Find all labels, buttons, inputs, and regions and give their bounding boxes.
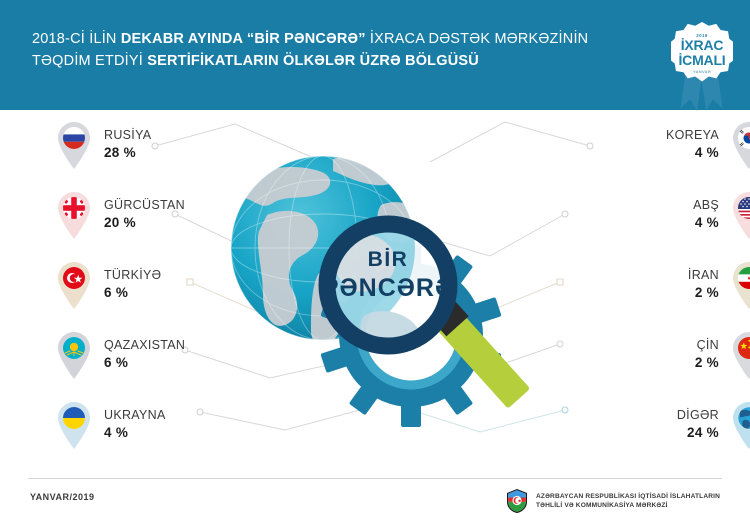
flag-china-pin-icon [727, 328, 750, 380]
country-name: QAZAXISTAN [104, 337, 185, 353]
list-item-koreya[interactable]: KOREYA 4 % [556, 118, 750, 188]
country-value: 6 % [104, 354, 185, 372]
country-value: 6 % [104, 284, 161, 302]
flag-usa-pin-icon [727, 188, 750, 240]
ixrac-icmali-badge: 2019 İXRAC İCMALI YANVAR [663, 22, 739, 114]
org-line-1: AZƏRBAYCAN RESPUBLİKASI İQTİSADİ İSLAHAT… [536, 492, 720, 501]
flag-turkey-pin-icon [52, 258, 96, 310]
country-name: RUSİYA [104, 127, 151, 143]
right-country-list: KOREYA 4 % [556, 118, 750, 468]
list-item-text: RUSİYA 28 % [104, 127, 151, 162]
left-country-list: RUSİYA 28 % [52, 118, 267, 468]
title-l2-bold: SERTİFİKATLARIN ÖLKƏLƏR ÜZRƏ BÖLGÜSÜ [147, 53, 479, 69]
organization-name: AZƏRBAYCAN RESPUBLİKASI İQTİSADİ İSLAHAT… [536, 492, 720, 510]
list-item-diger[interactable]: DİGƏR 24 % [556, 398, 750, 468]
list-item-text: DİGƏR 24 % [677, 407, 719, 442]
country-name: GÜRCÜSTAN [104, 197, 185, 213]
magnifier-text-line2: PƏNCƏRƏ [322, 274, 454, 302]
list-item-ukrayna[interactable]: UKRAYNA 4 % [52, 398, 267, 468]
org-line-2: TƏHLİLİ VƏ KOMMUNİKASİYA MƏRKƏZİ [536, 501, 720, 510]
magnifier-text-line1: BİR [368, 248, 409, 271]
country-value: 4 % [666, 144, 719, 162]
list-item-qazaxistan[interactable]: QAZAXISTAN 6 % [52, 328, 267, 398]
footer-date: YANVAR/2019 [30, 492, 95, 502]
title-l2-pre: TƏQDİM ETDİYİ [32, 53, 147, 69]
badge-seal-icon: 2019 İXRAC İCMALI YANVAR [671, 22, 733, 84]
list-item-text: ÇİN 2 % [695, 337, 719, 372]
infographic-page: 2018-Cİ İLİN DEKABR AYINDA “BİR PƏNCƏRƏ”… [0, 0, 750, 530]
flag-iran-pin-icon [727, 258, 750, 310]
list-item-iran[interactable]: İRAN 2 % [556, 258, 750, 328]
title-line-2: TƏQDİM ETDİYİ SERTİFİKATLARIN ÖLKƏLƏR ÜZ… [32, 53, 479, 69]
globe-pin-icon [727, 398, 750, 450]
azerbaijan-emblem-icon [505, 488, 529, 514]
list-item-text: TÜRKİYƏ 6 % [104, 267, 161, 302]
flag-korea-pin-icon [727, 118, 750, 170]
list-item-text: ABŞ 4 % [693, 197, 719, 232]
country-value: 20 % [104, 214, 185, 232]
badge-word-2: İCMALI [678, 53, 725, 68]
page-title: 2018-Cİ İLİN DEKABR AYINDA “BİR PƏNCƏRƏ”… [32, 28, 592, 72]
list-item-cin[interactable]: ÇİN 2 % [556, 328, 750, 398]
country-value: 2 % [688, 284, 719, 302]
list-item-abs[interactable]: ABŞ 4 % [556, 188, 750, 258]
country-value: 4 % [104, 424, 166, 442]
list-item-text: QAZAXISTAN 6 % [104, 337, 185, 372]
list-item-turkiye[interactable]: TÜRKİYƏ 6 % [52, 258, 267, 328]
list-item-rusiya[interactable]: RUSİYA 28 % [52, 118, 267, 188]
country-name: DİGƏR [677, 407, 719, 423]
list-item-text: KOREYA 4 % [666, 127, 719, 162]
country-name: İRAN [688, 267, 719, 283]
title-l1-bold: DEKABR AYINDA “BİR PƏNCƏRƏ” [121, 31, 366, 47]
list-item-gurcustan[interactable]: GÜRCÜSTAN 20 % [52, 188, 267, 258]
title-line-1: 2018-Cİ İLİN DEKABR AYINDA “BİR PƏNCƏRƏ”… [32, 31, 588, 47]
title-l1-post: İXRACA DƏSTƏK MƏRKƏZİNİN [366, 31, 589, 47]
list-item-text: UKRAYNA 4 % [104, 407, 166, 442]
badge-word-1: İXRAC [681, 38, 724, 53]
flag-georgia-pin-icon [52, 188, 96, 240]
country-value: 2 % [695, 354, 719, 372]
country-name: TÜRKİYƏ [104, 267, 161, 283]
header-banner: 2018-Cİ İLİN DEKABR AYINDA “BİR PƏNCƏRƏ”… [0, 0, 750, 110]
country-value: 4 % [693, 214, 719, 232]
flag-ukraine-pin-icon [52, 398, 96, 450]
organization-credit: AZƏRBAYCAN RESPUBLİKASI İQTİSADİ İSLAHAT… [505, 488, 720, 514]
footer-divider [28, 478, 722, 479]
flag-kazakhstan-pin-icon [52, 328, 96, 380]
country-name: UKRAYNA [104, 407, 166, 423]
flag-russia-pin-icon [52, 118, 96, 170]
title-l1-pre: 2018-Cİ İLİN [32, 31, 121, 47]
country-name: KOREYA [666, 127, 719, 143]
country-value: 28 % [104, 144, 151, 162]
country-value: 24 % [677, 424, 719, 442]
country-name: ABŞ [693, 197, 719, 213]
list-item-text: İRAN 2 % [688, 267, 719, 302]
badge-subtitle: YANVAR [693, 69, 711, 74]
country-name: ÇİN [695, 337, 719, 353]
list-item-text: GÜRCÜSTAN 20 % [104, 197, 185, 232]
